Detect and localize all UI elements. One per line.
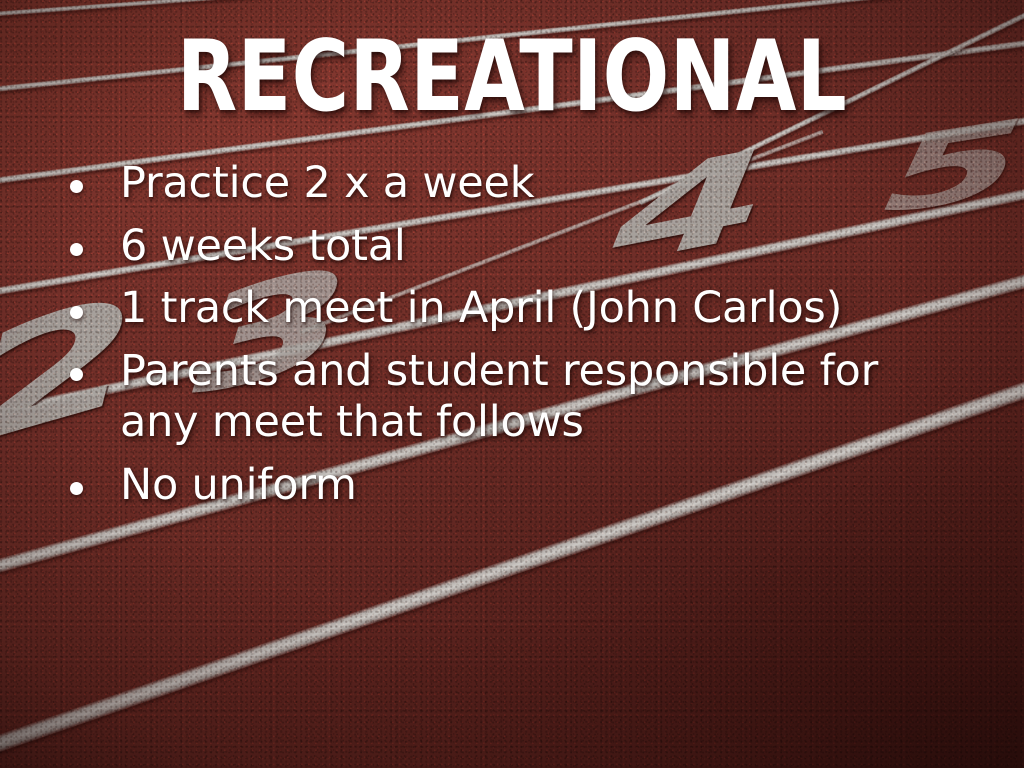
list-item: No uniform: [62, 460, 942, 512]
bullet-text: 1 track meet in April (John Carlos): [120, 283, 942, 335]
bullet-text: Practice 2 x a week: [120, 158, 942, 210]
page-title: RECREATIONAL: [102, 28, 921, 126]
bullet-dot-icon: [70, 482, 83, 495]
bullet-dot-icon: [70, 180, 83, 193]
list-item: 6 weeks total: [62, 221, 942, 273]
bullet-dot-icon: [70, 368, 83, 381]
list-item: Practice 2 x a week: [62, 158, 942, 210]
bullet-text: 6 weeks total: [120, 221, 942, 273]
bullet-text: No uniform: [120, 460, 942, 512]
list-item: Parents and student responsible for any …: [62, 346, 942, 449]
bullet-list: Practice 2 x a week 6 weeks total 1 trac…: [62, 158, 942, 523]
list-item: 1 track meet in April (John Carlos): [62, 283, 942, 335]
slide-canvas: 2 3 4 5 RECREATIONAL Practice 2 x a week…: [0, 0, 1024, 768]
bullet-dot-icon: [70, 243, 83, 256]
bullet-dot-icon: [70, 306, 83, 319]
bullet-text: Parents and student responsible for any …: [120, 346, 942, 449]
slide-content: RECREATIONAL Practice 2 x a week 6 weeks…: [0, 0, 1024, 768]
